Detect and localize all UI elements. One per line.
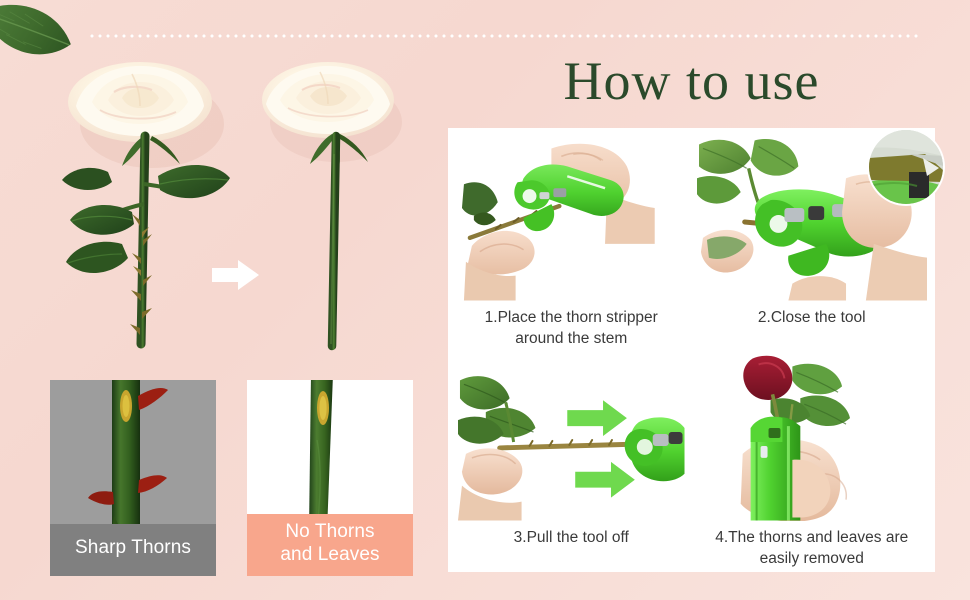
step-3-caption-line1: 3.Pull the tool off [514, 529, 629, 546]
dotted-divider [88, 34, 918, 38]
step-2-caption: 2.Close the tool [758, 308, 866, 329]
step-2-detail-inset [869, 130, 943, 204]
comparison-card-sharp-thorns: Sharp Thorns [50, 380, 216, 576]
rose-with-thorns-photo [48, 44, 238, 364]
step-1-caption-line2: around the stem [515, 330, 627, 347]
caption-sharp-thorns: Sharp Thorns [50, 524, 216, 576]
step-2-photo [697, 134, 928, 301]
step-3: 3.Pull the tool off [456, 354, 687, 570]
page-title: How to use [448, 54, 935, 108]
step-3-caption: 3.Pull the tool off [514, 528, 629, 549]
step-1: 1.Place the thorn stripper around the st… [456, 134, 687, 350]
caption-no-thorns-line2: and Leaves [280, 544, 379, 565]
infographic-canvas: Sharp Thorns No Thorns and Leaves [0, 0, 970, 600]
step-4-photo [697, 354, 928, 521]
step-2-caption-line1: 2.Close the tool [758, 309, 866, 326]
steps-card: 1.Place the thorn stripper around the st… [448, 128, 935, 572]
comparison-card-no-thorns: No Thorns and Leaves [247, 380, 413, 576]
step-4-caption-line1: 4.The thorns and leaves [715, 529, 881, 546]
caption-no-thorns: No Thorns and Leaves [247, 514, 413, 576]
caption-no-thorns-line1: No Thorns [285, 521, 374, 542]
step-1-photo [456, 134, 687, 301]
step-4: 4.The thorns and leaves are easily remov… [697, 354, 928, 570]
step-1-caption-line1: 1.Place the thorn stripper [485, 309, 658, 326]
step-2: 2.Close the tool [697, 134, 928, 350]
step-4-caption: 4.The thorns and leaves are easily remov… [704, 528, 919, 570]
step-3-photo [456, 354, 687, 521]
step-1-caption: 1.Place the thorn stripper around the st… [464, 308, 679, 350]
rose-without-thorns-photo [250, 44, 425, 364]
